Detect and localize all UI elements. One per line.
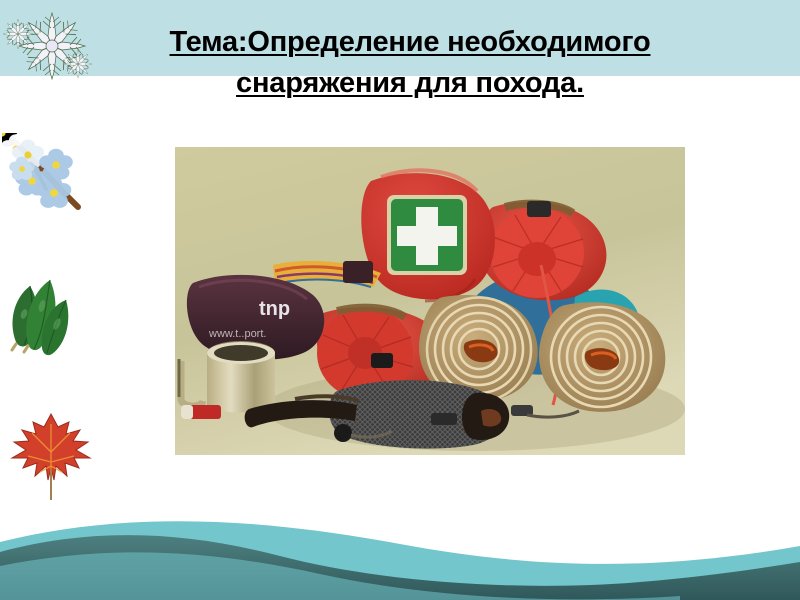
- page-title-line-1: Тема:Определение необходимого: [60, 22, 760, 63]
- wave-light: [0, 521, 800, 600]
- snowflake-icon: [2, 8, 94, 86]
- wave-light-overlay: [0, 552, 680, 600]
- green-leaves-icon: [2, 272, 102, 372]
- wave-dark: [0, 535, 800, 600]
- bottle-brand-text: tnp: [259, 298, 290, 320]
- bottle-url-text: www.t..port.: [208, 328, 266, 340]
- footer-wave-decoration: [0, 470, 800, 600]
- hiking-equipment-photo: tnp www.t..port.: [175, 147, 685, 455]
- slide-canvas: Тема:Определение необходимого снаряжения…: [0, 0, 800, 600]
- page-title: Тема:Определение необходимого снаряжения…: [60, 22, 760, 104]
- maple-leaf-icon: [2, 400, 100, 504]
- forget-me-not-flowers-icon: [2, 133, 106, 237]
- page-title-line-2: снаряжения для похода.: [60, 63, 760, 104]
